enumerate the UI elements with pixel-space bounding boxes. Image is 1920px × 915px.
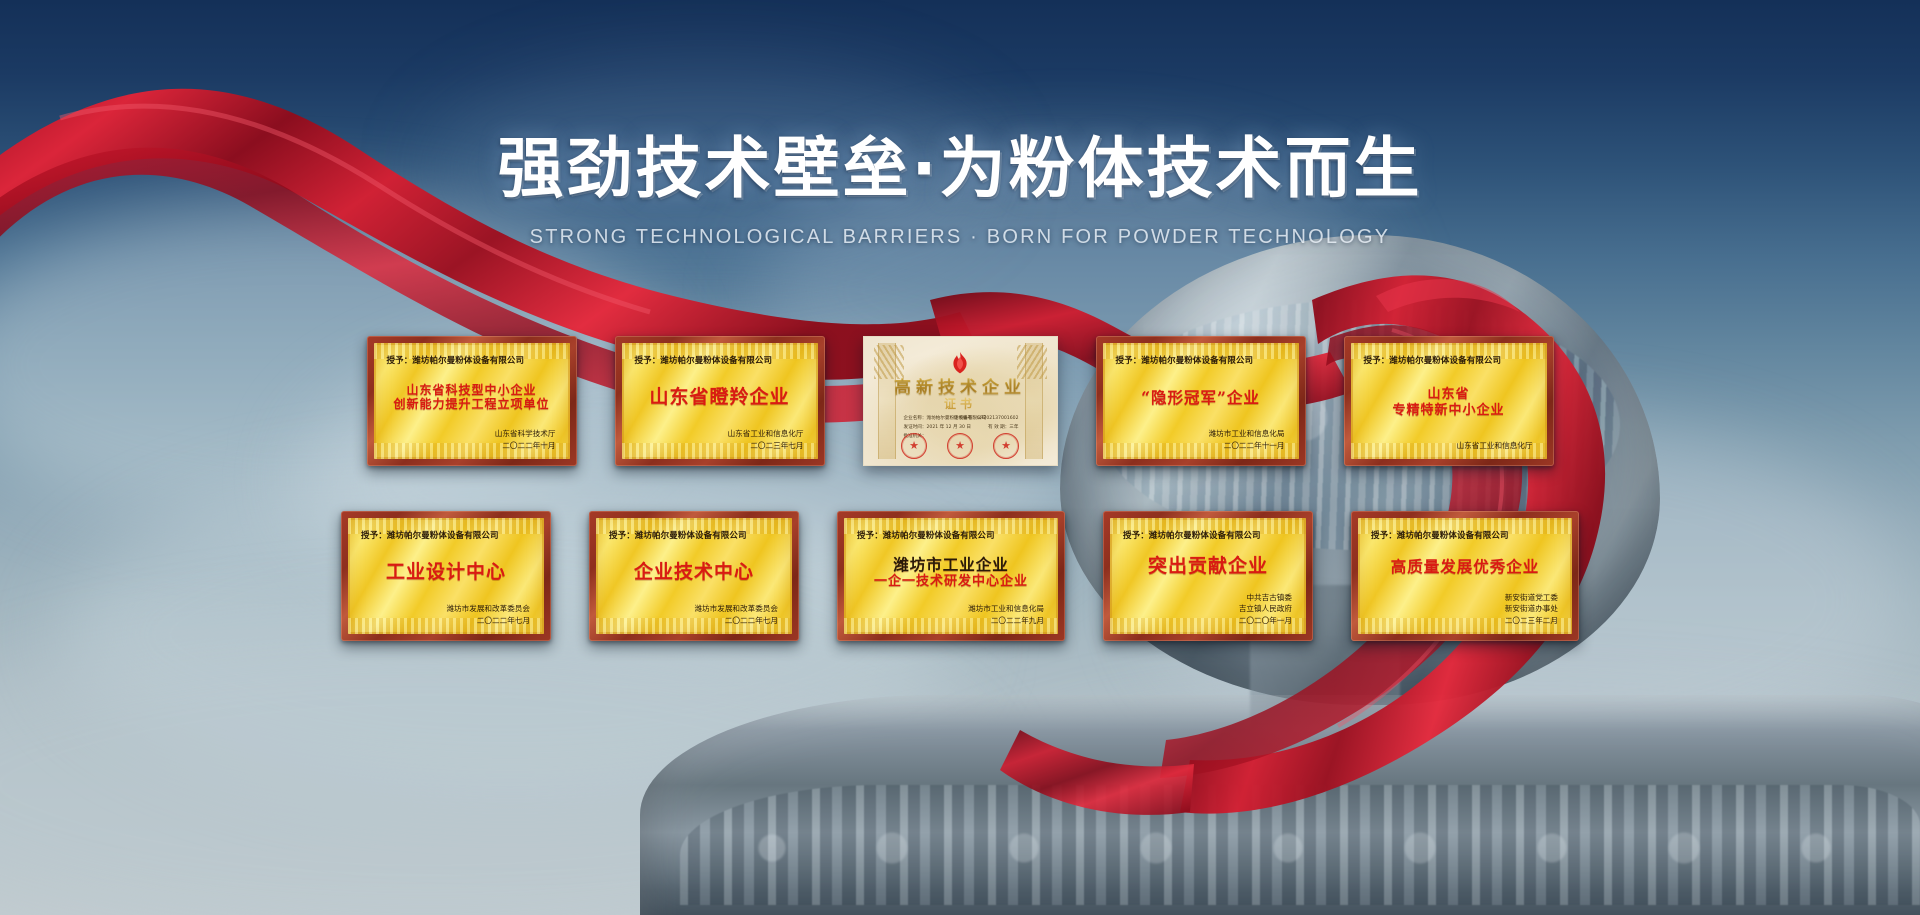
- plaque-awarded-to: 授予：潍坊帕尔曼粉体设备有限公司: [606, 529, 782, 541]
- high-tech-enterprise-certificate[interactable]: 高新技术企业 证书 企业名称：潍坊帕尔曼粉体设备有限公司 发证时间：2021 年…: [863, 336, 1058, 466]
- plaque-awarded-to: 授予：潍坊帕尔曼粉体设备有限公司: [384, 354, 560, 366]
- plaque-issuer: 潍坊市发展和改革委员会: [606, 603, 778, 614]
- plaque-footer: 山东省工业和信息化厅: [1361, 440, 1537, 451]
- plaque-issuer: 新安街道办事处: [1368, 603, 1558, 614]
- plaque-title-line: 企业技术中心: [634, 562, 754, 583]
- plaque-title-line: 山东省瞪羚企业: [649, 387, 789, 408]
- plaque-gold-panel: 授予：潍坊帕尔曼粉体设备有限公司 企业技术中心 潍坊市发展和改革委员会 二〇二二…: [596, 518, 792, 634]
- plaque-title: 工业设计中心: [358, 542, 534, 603]
- plaque-title: 山东省 专精特新中小企业: [1361, 367, 1537, 440]
- award-plaque[interactable]: 授予：潍坊帕尔曼粉体设备有限公司 高质量发展优秀企业 新安街道党工委 新安街道办…: [1351, 511, 1579, 641]
- plaque-gold-panel: 授予：潍坊帕尔曼粉体设备有限公司 工业设计中心 潍坊市发展和改革委员会 二〇二二…: [348, 518, 544, 634]
- plaque-awarded-to: 授予：潍坊帕尔曼粉体设备有限公司: [358, 529, 534, 541]
- certificate-field: 有 效 期：三年: [954, 424, 1019, 433]
- plaque-title-line: 潍坊市工业企业: [893, 556, 1009, 573]
- awards-row-2: 授予：潍坊帕尔曼粉体设备有限公司 工业设计中心 潍坊市发展和改革委员会 二〇二二…: [341, 511, 1579, 641]
- plaque-date: 二〇二三年七月: [632, 440, 804, 451]
- plaque-footer: 中共吉古镇委 吉立镇人民政府 二〇二〇年一月: [1120, 592, 1296, 626]
- plaque-title-line: 一企一技术研发中心企业: [874, 575, 1028, 590]
- plaque-issuer: 山东省工业和信息化厅: [1361, 440, 1533, 451]
- awards-grid: 授予：潍坊帕尔曼粉体设备有限公司 山东省科技型中小企业 创新能力提升工程立项单位…: [0, 336, 1920, 641]
- plaque-awarded-to: 授予：潍坊帕尔曼粉体设备有限公司: [1361, 354, 1537, 366]
- plaque-date: 二〇二〇年一月: [1120, 615, 1292, 626]
- plaque-issuer: 新安街道党工委: [1368, 592, 1558, 603]
- plaque-title-line: “隐形冠军”企业: [1141, 389, 1260, 406]
- plaque-footer: 新安街道党工委 新安街道办事处 二〇二三年二月: [1368, 592, 1562, 626]
- plaque-footer: 潍坊市发展和改革委员会 二〇二二年七月: [606, 603, 782, 626]
- certificate-subtitle: 证书: [864, 395, 1057, 412]
- plaque-date: 二〇二二年九月: [854, 615, 1044, 626]
- award-plaque[interactable]: 授予：潍坊帕尔曼粉体设备有限公司 山东省 专精特新中小企业 山东省工业和信息化厅: [1344, 336, 1554, 466]
- plaque-issuer: 山东省工业和信息化厅: [632, 428, 804, 439]
- certificate-fields-right: 证书编号：GR202137001602 有 效 期：三年: [954, 415, 1019, 433]
- red-seal-icon: ★: [993, 433, 1019, 459]
- plaque-title-line: 专精特新中小企业: [1392, 404, 1504, 419]
- plaque-title: 突出贡献企业: [1120, 542, 1296, 592]
- plaque-date: 二〇二二年十一月: [1113, 440, 1285, 451]
- plaque-title: 山东省科技型中小企业 创新能力提升工程立项单位: [384, 367, 560, 428]
- plaque-title-line: 工业设计中心: [386, 562, 506, 583]
- plaque-title-line: 山东省: [1427, 388, 1469, 403]
- plaque-title: 高质量发展优秀企业: [1368, 542, 1562, 592]
- award-plaque[interactable]: 授予：潍坊帕尔曼粉体设备有限公司 山东省科技型中小企业 创新能力提升工程立项单位…: [367, 336, 577, 466]
- award-plaque[interactable]: 授予：潍坊帕尔曼粉体设备有限公司 突出贡献企业 中共吉古镇委 吉立镇人民政府 二…: [1103, 511, 1313, 641]
- plaque-issuer: 山东省科学技术厅: [384, 428, 556, 439]
- plaque-issuer: 潍坊市工业和信息化局: [854, 603, 1044, 614]
- plaque-awarded-to: 授予：潍坊帕尔曼粉体设备有限公司: [632, 354, 808, 366]
- award-plaque[interactable]: 授予：潍坊帕尔曼粉体设备有限公司 工业设计中心 潍坊市发展和改革委员会 二〇二二…: [341, 511, 551, 641]
- plaque-title-line: 山东省科技型中小企业: [406, 384, 536, 397]
- plaque-title: 潍坊市工业企业 一企一技术研发中心企业: [854, 542, 1048, 603]
- plaque-title: 企业技术中心: [606, 542, 782, 603]
- plaque-date: 二〇二二年七月: [606, 615, 778, 626]
- red-seal-icon: ★: [901, 433, 927, 459]
- plaque-gold-panel: 授予：潍坊帕尔曼粉体设备有限公司 潍坊市工业企业 一企一技术研发中心企业 潍坊市…: [844, 518, 1058, 634]
- flame-icon: [950, 352, 970, 374]
- plaque-gold-panel: 授予：潍坊帕尔曼粉体设备有限公司 山东省瞪羚企业 山东省工业和信息化厅 二〇二三…: [622, 343, 818, 459]
- plaque-gold-panel: 授予：潍坊帕尔曼粉体设备有限公司 高质量发展优秀企业 新安街道党工委 新安街道办…: [1358, 518, 1572, 634]
- award-plaque[interactable]: 授予：潍坊帕尔曼粉体设备有限公司 “隐形冠军”企业 潍坊市工业和信息化局 二〇二…: [1096, 336, 1306, 466]
- plaque-footer: 山东省工业和信息化厅 二〇二三年七月: [632, 428, 808, 451]
- page-title: 强劲技术壁垒·为粉体技术而生: [0, 132, 1920, 206]
- plaque-awarded-to: 授予：潍坊帕尔曼粉体设备有限公司: [1120, 529, 1296, 541]
- plaque-title-line: 创新能力提升工程立项单位: [393, 398, 549, 411]
- award-plaque[interactable]: 授予：潍坊帕尔曼粉体设备有限公司 潍坊市工业企业 一企一技术研发中心企业 潍坊市…: [837, 511, 1065, 641]
- red-seal-icon: ★: [947, 433, 973, 459]
- plaque-date: 二〇二三年二月: [1368, 615, 1558, 626]
- banner-headings: 强劲技术壁垒·为粉体技术而生 STRONG TECHNOLOGICAL BARR…: [0, 132, 1920, 249]
- plaque-issuer: 吉立镇人民政府: [1120, 603, 1292, 614]
- award-plaque[interactable]: 授予：潍坊帕尔曼粉体设备有限公司 企业技术中心 潍坊市发展和改革委员会 二〇二二…: [589, 511, 799, 641]
- awards-row-1: 授予：潍坊帕尔曼粉体设备有限公司 山东省科技型中小企业 创新能力提升工程立项单位…: [367, 336, 1554, 466]
- plaque-awarded-to: 授予：潍坊帕尔曼粉体设备有限公司: [854, 529, 1048, 541]
- plaque-title: 山东省瞪羚企业: [632, 367, 808, 428]
- plaque-title: “隐形冠军”企业: [1113, 367, 1289, 428]
- plaque-gold-panel: 授予：潍坊帕尔曼粉体设备有限公司 “隐形冠军”企业 潍坊市工业和信息化局 二〇二…: [1103, 343, 1299, 459]
- certificate-seals: ★ ★ ★: [864, 433, 1057, 459]
- certificate-field: 证书编号：GR202137001602: [954, 415, 1019, 424]
- plaque-gold-panel: 授予：潍坊帕尔曼粉体设备有限公司 山东省 专精特新中小企业 山东省工业和信息化厅: [1351, 343, 1547, 459]
- plaque-issuer: 潍坊市发展和改革委员会: [358, 603, 530, 614]
- plaque-footer: 山东省科学技术厅 二〇二二年十月: [384, 428, 560, 451]
- plaque-footer: 潍坊市发展和改革委员会 二〇二二年七月: [358, 603, 534, 626]
- page-subtitle: STRONG TECHNOLOGICAL BARRIERS · BORN FOR…: [0, 226, 1920, 249]
- plaque-gold-panel: 授予：潍坊帕尔曼粉体设备有限公司 山东省科技型中小企业 创新能力提升工程立项单位…: [374, 343, 570, 459]
- plaque-awarded-to: 授予：潍坊帕尔曼粉体设备有限公司: [1113, 354, 1289, 366]
- plaque-gold-panel: 授予：潍坊帕尔曼粉体设备有限公司 突出贡献企业 中共吉古镇委 吉立镇人民政府 二…: [1110, 518, 1306, 634]
- plaque-issuer: 中共吉古镇委: [1120, 592, 1292, 603]
- plaque-title-line: 高质量发展优秀企业: [1391, 558, 1540, 575]
- plaque-date: 二〇二二年七月: [358, 615, 530, 626]
- award-plaque[interactable]: 授予：潍坊帕尔曼粉体设备有限公司 山东省瞪羚企业 山东省工业和信息化厅 二〇二三…: [615, 336, 825, 466]
- plaque-footer: 潍坊市工业和信息化局 二〇二二年九月: [854, 603, 1048, 626]
- plaque-footer: 潍坊市工业和信息化局 二〇二二年十一月: [1113, 428, 1289, 451]
- plaque-date: 二〇二二年十月: [384, 440, 556, 451]
- plaque-title-line: 突出贡献企业: [1148, 556, 1268, 577]
- banner-stage: 强劲技术壁垒·为粉体技术而生 STRONG TECHNOLOGICAL BARR…: [0, 0, 1920, 915]
- plaque-issuer: 潍坊市工业和信息化局: [1113, 428, 1285, 439]
- plaque-awarded-to: 授予：潍坊帕尔曼粉体设备有限公司: [1368, 529, 1562, 541]
